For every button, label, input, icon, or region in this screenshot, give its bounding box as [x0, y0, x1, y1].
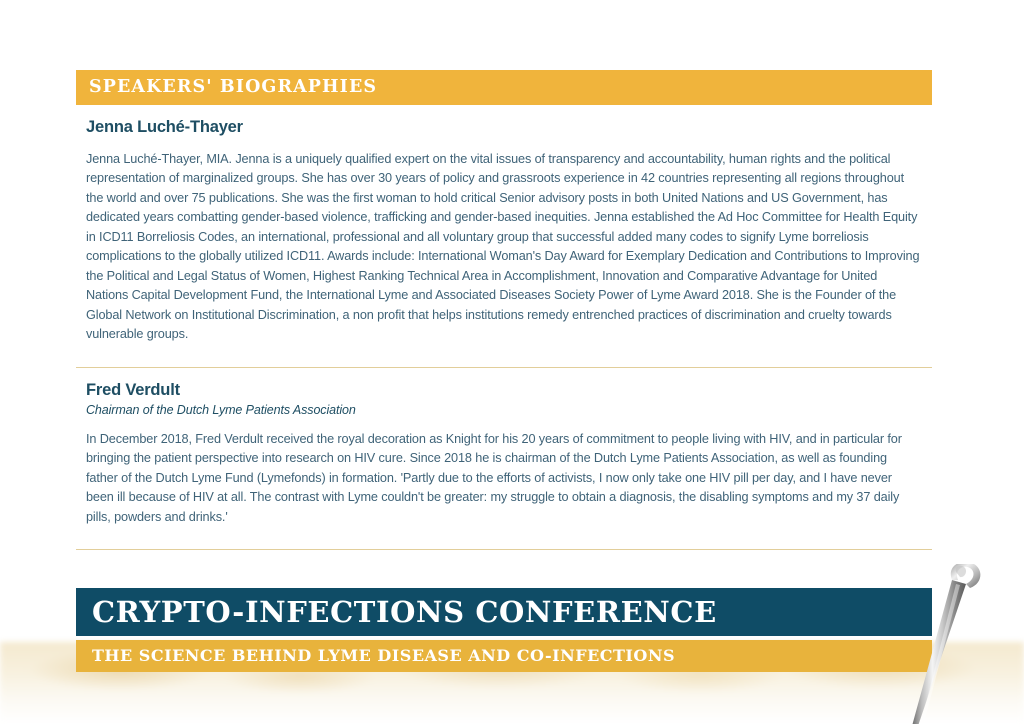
speaker-biography-text: In December 2018, Fred Verdult received … — [76, 417, 932, 527]
conference-footer-banner: CRYPTO-INFECTIONS CONFERENCE THE SCIENCE… — [0, 564, 1024, 724]
speaker-role: Chairman of the Dutch Lyme Patients Asso… — [76, 400, 932, 417]
speakers-biographies-header-bar: SPEAKERS' BIOGRAPHIES — [76, 70, 932, 105]
biography-entry: Jenna Luché-Thayer Jenna Luché-Thayer, M… — [76, 105, 932, 345]
speaker-name: Jenna Luché-Thayer — [76, 105, 932, 137]
document-page: SPEAKERS' BIOGRAPHIES Jenna Luché-Thayer… — [0, 0, 1024, 724]
section-title: SPEAKERS' BIOGRAPHIES — [89, 79, 377, 97]
section-divider — [76, 549, 932, 550]
biography-entry: Fred Verdult Chairman of the Dutch Lyme … — [76, 368, 932, 527]
conference-subtitle: THE SCIENCE BEHIND LYME DISEASE AND CO-I… — [92, 648, 675, 664]
conference-title-bar: CRYPTO-INFECTIONS CONFERENCE — [76, 588, 932, 636]
speaker-name: Fred Verdult — [76, 368, 932, 400]
conference-title: CRYPTO-INFECTIONS CONFERENCE — [92, 598, 717, 627]
speaker-biography-text: Jenna Luché-Thayer, MIA. Jenna is a uniq… — [76, 137, 932, 345]
conference-subtitle-bar: THE SCIENCE BEHIND LYME DISEASE AND CO-I… — [76, 640, 932, 672]
biographies-content: Jenna Luché-Thayer Jenna Luché-Thayer, M… — [76, 105, 932, 550]
